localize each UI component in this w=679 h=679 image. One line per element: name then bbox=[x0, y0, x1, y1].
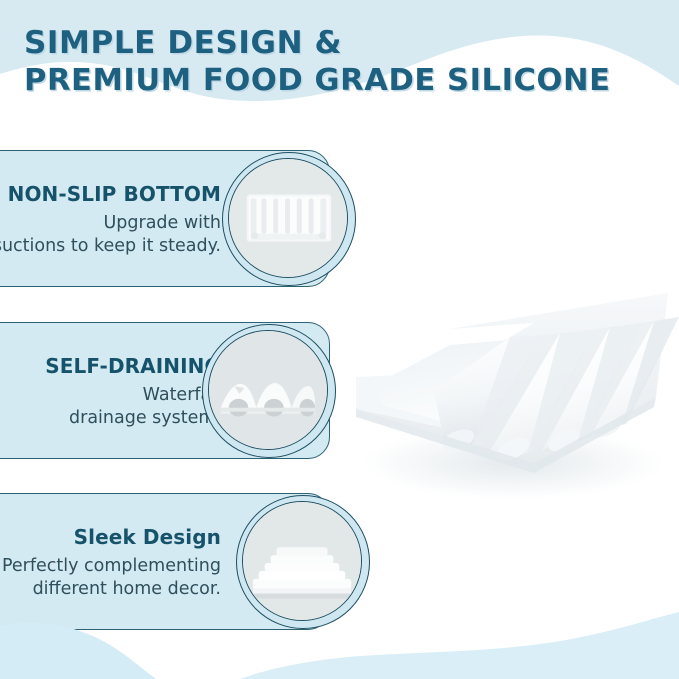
feature-desc-line-1: Upgrade with bbox=[103, 212, 221, 235]
waterfall-drainage-photo bbox=[209, 331, 327, 449]
page-title: SIMPLE DESIGN & PREMIUM FOOD GRADE SILIC… bbox=[24, 24, 664, 100]
title-line-2: PREMIUM FOOD GRADE SILICONE bbox=[24, 62, 664, 100]
feature-icon-soap-dish-waterfall-drainage-photo bbox=[208, 330, 328, 450]
feature-icon-soap-dish-underside-suction-photo bbox=[228, 158, 348, 278]
infographic-page: SIMPLE DESIGN & PREMIUM FOOD GRADE SILIC… bbox=[0, 0, 679, 679]
feature-text-non-slip-bottom: NON-SLIP BOTTOM Upgrade with suctions to… bbox=[0, 151, 223, 288]
feature-text-self-draining: SELF-DRAINING Waterfall drainage system. bbox=[0, 323, 223, 460]
title-line-1: SIMPLE DESIGN & bbox=[24, 24, 664, 62]
soap-dish-illustration bbox=[338, 285, 679, 520]
product-image-silicone-soap-dish bbox=[338, 285, 679, 520]
feature-desc-line-2: drainage system. bbox=[69, 407, 221, 430]
feature-title-sleek-design: Sleek Design bbox=[74, 524, 221, 550]
feature-icon-soap-dish-side-profile-photo bbox=[242, 501, 362, 621]
feature-title-non-slip-bottom: NON-SLIP BOTTOM bbox=[8, 181, 221, 207]
bottom-left-wave bbox=[0, 623, 156, 679]
feature-desc-line-2: different home decor. bbox=[33, 578, 221, 601]
feature-text-sleek-design: Sleek Design Perfectly complementing dif… bbox=[0, 494, 223, 631]
sleek-profile-photo bbox=[243, 502, 361, 620]
feature-desc-line-1: Perfectly complementing bbox=[2, 555, 221, 578]
feature-desc-line-2: suctions to keep it steady. bbox=[0, 235, 221, 258]
feature-title-self-draining: SELF-DRAINING bbox=[45, 353, 221, 379]
header-band: SIMPLE DESIGN & PREMIUM FOOD GRADE SILIC… bbox=[0, 0, 679, 140]
suction-bottom-photo bbox=[229, 159, 347, 277]
